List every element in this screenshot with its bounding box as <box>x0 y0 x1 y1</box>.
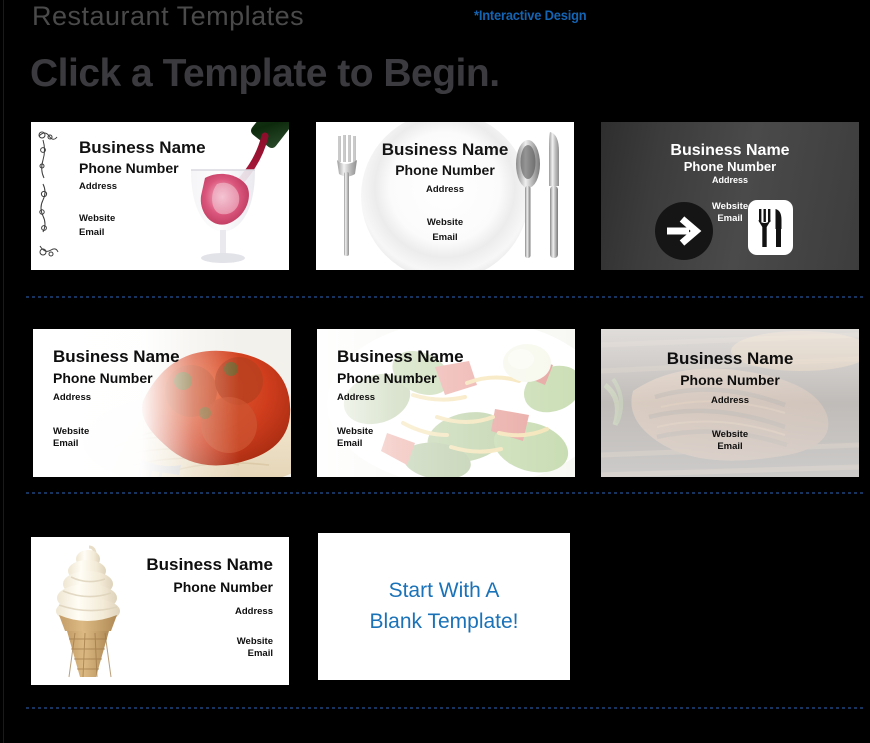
template-card-salad[interactable]: Business Name Phone Number Address Websi… <box>317 329 575 477</box>
template-card-ice-cream[interactable]: Business Name Phone Number Address Websi… <box>31 537 289 685</box>
corner-flourish-icon <box>37 128 59 264</box>
card-address: Address <box>79 182 206 193</box>
card-address: Address <box>601 175 859 185</box>
card-website: Website <box>316 217 574 229</box>
templates-page: Restaurant Templates *Interactive Design… <box>0 0 870 743</box>
card-text-block: Business Name Phone Number Address Websi… <box>337 347 464 450</box>
template-card-blank[interactable]: Start With A Blank Template! <box>318 533 570 680</box>
card-email: Email <box>337 438 464 450</box>
card-business-name: Business Name <box>337 347 464 366</box>
template-grid: Business Name Phone Number Address Websi… <box>0 0 870 743</box>
template-card-wine[interactable]: Business Name Phone Number Address Websi… <box>31 122 289 270</box>
card-business-name: Business Name <box>146 555 273 574</box>
card-address: Address <box>146 607 273 618</box>
card-address: Address <box>337 393 464 404</box>
card-business-name: Business Name <box>601 142 859 160</box>
card-phone-number: Phone Number <box>601 160 859 175</box>
card-text-block: Business Name Phone Number Address Websi… <box>79 138 206 239</box>
card-address: Address <box>53 393 180 404</box>
blank-template-line1: Start With A <box>389 576 500 606</box>
card-phone-number: Phone Number <box>337 370 464 386</box>
card-email: Email <box>601 441 859 453</box>
card-address: Address <box>316 185 574 196</box>
card-text-block: Business Name Phone Number Address Websi… <box>601 142 859 225</box>
card-text-block: Business Name Phone Number Address Websi… <box>53 347 180 450</box>
card-business-name: Business Name <box>79 138 206 157</box>
row-divider-3 <box>26 707 866 709</box>
card-email: Email <box>79 227 206 239</box>
row-divider-2 <box>26 492 866 494</box>
card-email: Email <box>53 438 180 450</box>
card-phone-number: Phone Number <box>53 370 180 386</box>
card-email: Email <box>146 648 273 660</box>
template-card-place-setting[interactable]: Business Name Phone Number Address Websi… <box>316 122 574 270</box>
card-website: Website <box>337 426 464 438</box>
card-phone-number: Phone Number <box>601 372 859 388</box>
template-card-spaghetti[interactable]: Business Name Phone Number Address Websi… <box>33 329 291 477</box>
card-phone-number: Phone Number <box>79 160 206 176</box>
card-address: Address <box>601 396 859 407</box>
card-business-name: Business Name <box>601 349 859 368</box>
card-text-block: Business Name Phone Number Address Websi… <box>601 349 859 453</box>
template-card-steak[interactable]: Business Name Phone Number Address Websi… <box>601 329 859 477</box>
card-text-block: Business Name Phone Number Address Websi… <box>316 140 574 244</box>
card-website: Website <box>601 429 859 441</box>
card-business-name: Business Name <box>316 140 574 159</box>
card-text-block: Business Name Phone Number Address Websi… <box>146 555 273 660</box>
template-card-dark-modern[interactable]: Business Name Phone Number Address Websi… <box>601 122 859 270</box>
card-phone-number: Phone Number <box>316 162 574 178</box>
arrow-right-icon[interactable] <box>655 202 713 260</box>
card-email: Email <box>316 232 574 244</box>
blank-template-label: Start With A Blank Template! <box>318 533 570 680</box>
card-website: Website <box>53 426 180 438</box>
row-divider-1 <box>26 296 866 298</box>
card-business-name: Business Name <box>53 347 180 366</box>
card-website: Website <box>79 213 206 225</box>
card-website: Website <box>601 201 859 213</box>
ice-cream-cone-image <box>49 543 129 681</box>
card-website: Website <box>146 636 273 648</box>
card-phone-number: Phone Number <box>146 579 273 595</box>
card-email: Email <box>601 213 859 225</box>
fork-knife-icon[interactable] <box>748 200 793 255</box>
blank-template-line2: Blank Template! <box>369 607 518 637</box>
